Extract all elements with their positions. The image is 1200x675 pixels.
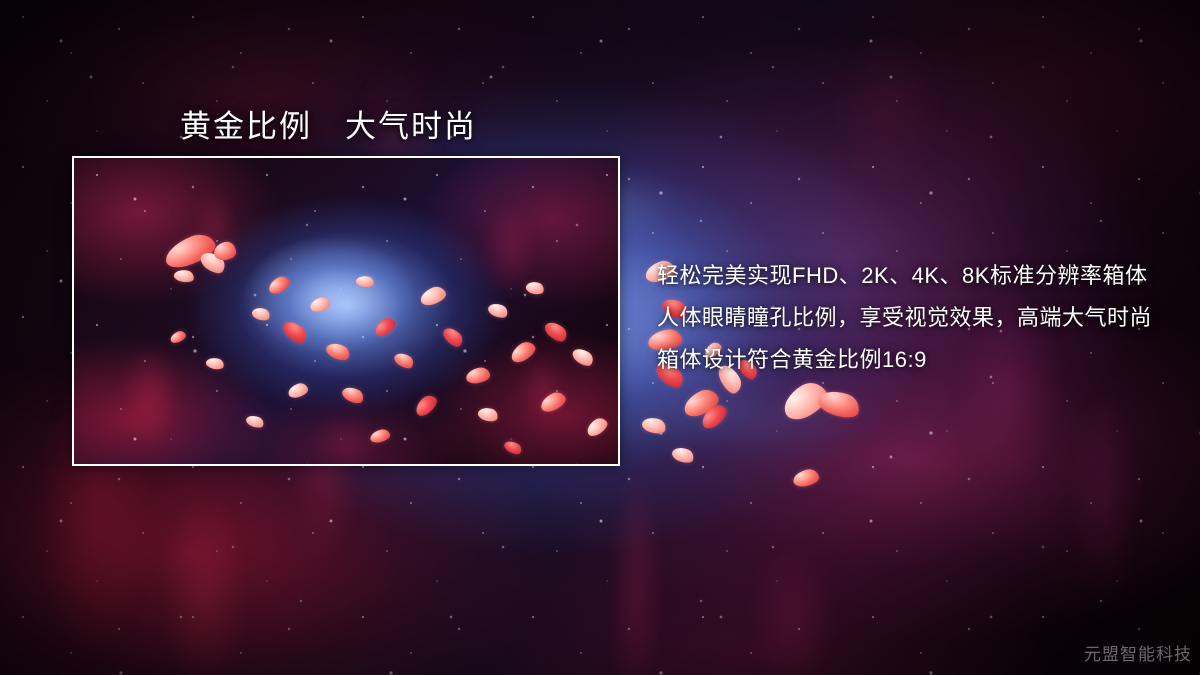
- body-text-line: 人体眼睛瞳孔比例，享受视觉效果，高端大气时尚: [657, 297, 1127, 339]
- body-text-block: 轻松完美实现FHD、2K、4K、8K标准分辨率箱体 人体眼睛瞳孔比例，享受视觉效…: [657, 255, 1127, 381]
- body-text-line: 箱体设计符合黄金比例16:9: [657, 339, 1127, 381]
- framed-starfield-medium: [74, 158, 618, 464]
- page-title: 黄金比例 大气时尚: [180, 101, 477, 146]
- body-text-line: 轻松完美实现FHD、2K、4K、8K标准分辨率箱体: [657, 255, 1127, 297]
- presentation-slide: 黄金比例 大气时尚 轻松完美实现FHD、2K、4K、8K标准分辨率箱体 人体眼睛…: [0, 0, 1200, 675]
- watermark: 元盟智能科技: [1084, 640, 1192, 665]
- framed-image: [72, 156, 620, 466]
